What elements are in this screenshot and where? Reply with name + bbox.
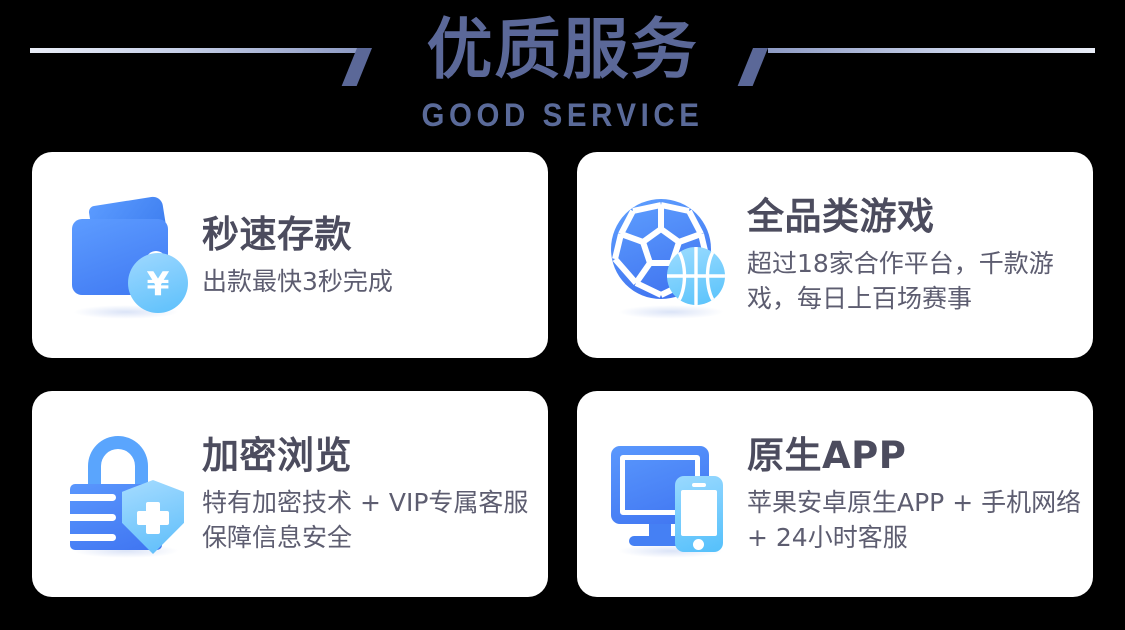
card-text-block: 原生APP 苹果安卓原生APP + 手机网络 + 24小时客服	[737, 433, 1093, 555]
card-title: 秒速存款	[202, 212, 548, 258]
feature-card-games[interactable]: 全品类游戏 超过18家合作平台，千款游戏，每日上百场赛事	[577, 152, 1093, 358]
monitor-phone-icon	[605, 428, 737, 560]
yen-coin-icon: ¥	[128, 253, 188, 313]
card-subtitle: 苹果安卓原生APP + 手机网络 + 24小时客服	[747, 485, 1093, 555]
phone-screen	[681, 490, 717, 536]
card-title: 原生APP	[747, 433, 1093, 479]
page-title: 优质服务	[0, 10, 1125, 90]
feature-card-grid: ¥ 秒速存款 出款最快3秒完成	[32, 152, 1093, 602]
phone-home-button	[693, 539, 704, 550]
card-title: 加密浏览	[202, 433, 548, 479]
page-subtitle: GOOD SERVICE	[45, 96, 1080, 134]
phone-speaker	[692, 483, 706, 487]
wallet-coin-icon: ¥	[60, 189, 192, 321]
lock-stripe	[62, 494, 116, 501]
feature-card-encryption[interactable]: 加密浏览 特有加密技术 + VIP专属客服保障信息安全	[32, 391, 548, 597]
card-subtitle: 超过18家合作平台，千款游戏，每日上百场赛事	[747, 246, 1093, 316]
soccer-basketball-icon	[605, 189, 737, 321]
section-header: 优质服务 GOOD SERVICE	[0, 0, 1125, 150]
card-title: 全品类游戏	[747, 194, 1093, 240]
icon-shadow	[618, 305, 724, 319]
card-subtitle: 特有加密技术 + VIP专属客服保障信息安全	[202, 485, 548, 555]
basketball-icon	[667, 247, 725, 305]
lock-stripe	[62, 534, 116, 541]
feature-card-native-app[interactable]: 原生APP 苹果安卓原生APP + 手机网络 + 24小时客服	[577, 391, 1093, 597]
lock-shield-icon	[60, 428, 192, 560]
card-text-block: 全品类游戏 超过18家合作平台，千款游戏，每日上百场赛事	[737, 194, 1093, 316]
card-subtitle: 出款最快3秒完成	[202, 264, 532, 299]
feature-card-deposit[interactable]: ¥ 秒速存款 出款最快3秒完成	[32, 152, 548, 358]
card-text-block: 加密浏览 特有加密技术 + VIP专属客服保障信息安全	[192, 433, 548, 555]
card-text-block: 秒速存款 出款最快3秒完成	[192, 212, 548, 299]
plus-icon	[146, 502, 160, 534]
phone-icon	[675, 476, 723, 552]
lock-stripe	[62, 514, 116, 521]
